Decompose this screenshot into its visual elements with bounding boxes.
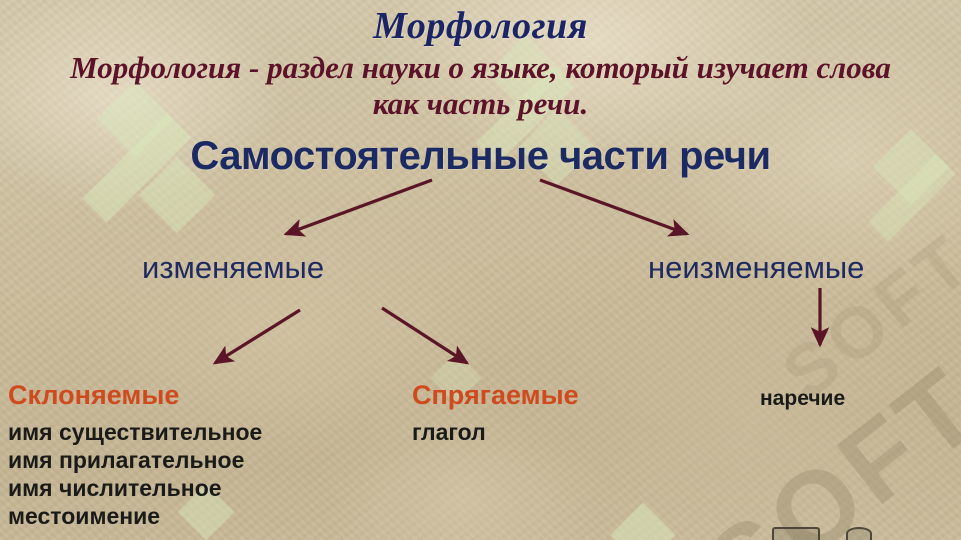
page-title: Морфология [0, 4, 961, 48]
group-list-spryagaemye: глагол [412, 418, 486, 446]
list-item: имя числительное [8, 474, 262, 502]
group-heading-spryagaemye: Спрягаемые [412, 380, 579, 411]
group-heading-sklonyaemye: Склоняемые [8, 380, 179, 411]
arrow-heading-to-unchangeable [540, 180, 687, 234]
list-item: местоимение [8, 502, 262, 530]
page-definition: Морфология - раздел науки о языке, котор… [0, 50, 961, 122]
arrow-changeable-to-spryagaemye [382, 308, 467, 363]
group-list-sklonyaemye: имя существительное имя прилагательное и… [8, 418, 262, 530]
list-item: имя прилагательное [8, 446, 262, 474]
watermark-text: SOFT [683, 341, 961, 540]
bottom-edge-icon [846, 527, 872, 540]
branch-label-unchangeable: неизменяемые [648, 250, 864, 286]
bottom-edge-icon [772, 527, 820, 540]
section-heading: Самостоятельные части речи [0, 134, 961, 179]
branch-label-changeable: изменяемые [142, 250, 324, 286]
arrow-heading-to-changeable [286, 180, 432, 234]
leaf-narechie: наречие [760, 385, 845, 413]
watermark-shape [610, 502, 675, 540]
slide-canvas: SOFT SOFT Морфология Морфология - раздел… [0, 0, 961, 540]
arrow-changeable-to-sklonyaemye [215, 310, 300, 363]
list-item: имя существительное [8, 418, 262, 446]
list-item: глагол [412, 418, 486, 446]
